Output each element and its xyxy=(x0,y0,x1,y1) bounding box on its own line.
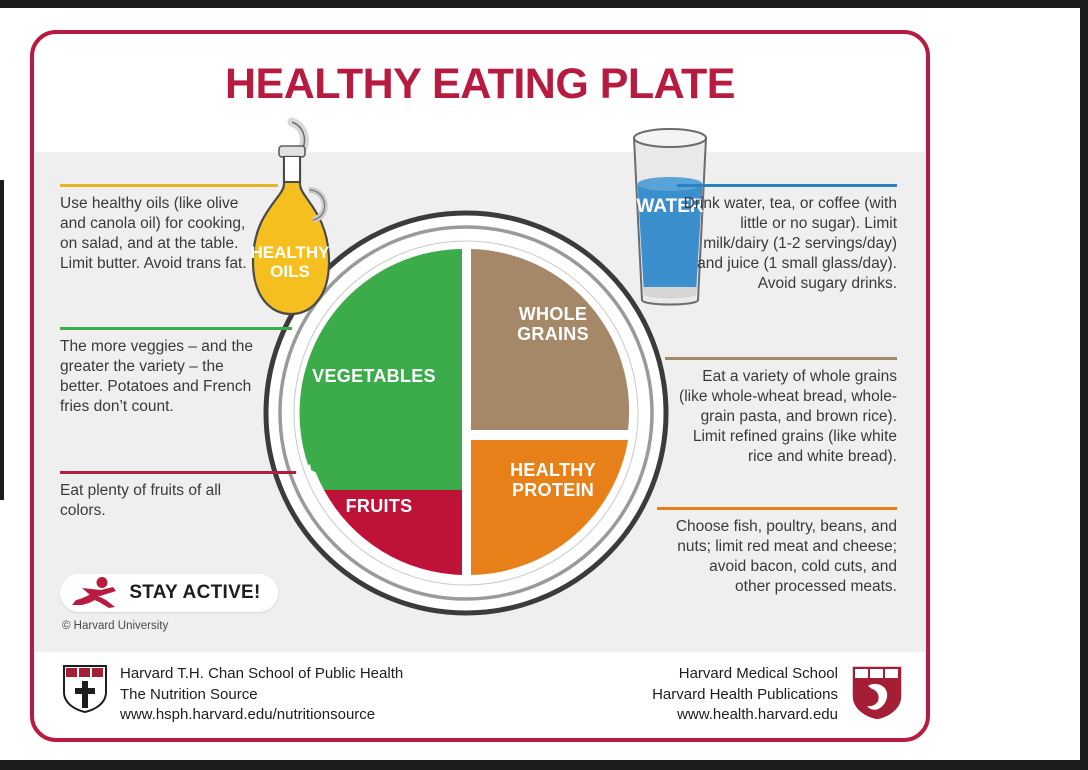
page-title: HEALTHY EATING PLATE xyxy=(34,60,926,109)
running-person-icon xyxy=(68,576,122,610)
callout-healthy-protein: Choose fish, poultry, beans, and nuts; l… xyxy=(670,507,897,597)
runner-arms xyxy=(82,587,116,596)
callout-rule-water xyxy=(677,184,897,187)
footer-left-line3[interactable]: www.hsph.harvard.edu/nutritionsource xyxy=(120,705,403,726)
callout-fruits: Eat plenty of fruits of all colors. xyxy=(60,471,268,521)
callout-rule-whole-grains xyxy=(665,357,897,360)
footer-right-line1: Harvard Medical School xyxy=(652,664,838,685)
callout-text-vegetables: The more veggies – and the greater the v… xyxy=(60,337,268,417)
callout-rule-fruits xyxy=(60,471,296,474)
hms-book-1 xyxy=(855,669,868,678)
runner-head xyxy=(97,577,108,588)
callout-healthy-oils: Use healthy oils (like olive and canola … xyxy=(60,184,260,274)
stay-active-badge[interactable]: STAY ACTIVE! xyxy=(60,574,278,612)
callout-vegetables: The more veggies – and the greater the v… xyxy=(60,327,268,417)
callout-text-healthy-oils: Use healthy oils (like olive and canola … xyxy=(60,194,260,274)
callout-rule-healthy-protein xyxy=(657,507,897,510)
screenshot-canvas: HEALTHY EATING PLATE VEGETABL xyxy=(0,0,1088,770)
oil-neck-empty xyxy=(284,157,300,182)
footer-right-line2: Harvard Health Publications xyxy=(652,685,838,706)
shield-book-3 xyxy=(92,668,103,677)
callout-water: Drink water, tea, or coffee (with little… xyxy=(677,184,897,294)
hms-book-2 xyxy=(870,669,883,678)
callout-text-whole-grains: Eat a variety of whole grains (like whol… xyxy=(677,367,897,467)
callout-text-healthy-protein: Choose fish, poultry, beans, and nuts; l… xyxy=(670,517,897,597)
window-chrome-right xyxy=(1080,0,1088,770)
footer-left-text: Harvard T.H. Chan School of Public Healt… xyxy=(120,664,403,726)
shield-book-1 xyxy=(66,668,77,677)
footer-left-line2: The Nutrition Source xyxy=(120,685,403,706)
footer-harvard-medical: Harvard Medical School Harvard Health Pu… xyxy=(652,664,904,726)
plate-segment-vegetables-ext[interactable] xyxy=(304,413,462,490)
window-chrome-top xyxy=(0,0,1088,8)
stay-active-label: STAY ACTIVE! xyxy=(122,582,278,604)
footer-left-line1: Harvard T.H. Chan School of Public Healt… xyxy=(120,664,403,685)
footer-harvard-chan: Harvard T.H. Chan School of Public Healt… xyxy=(62,664,403,726)
callout-whole-grains: Eat a variety of whole grains (like whol… xyxy=(677,357,897,467)
callout-rule-healthy-oils xyxy=(60,184,278,187)
copyright-text: © Harvard University xyxy=(62,620,168,632)
shield-book-2 xyxy=(79,668,90,677)
hms-book-3 xyxy=(885,669,898,678)
window-chrome-bottom xyxy=(0,760,1088,770)
harvard-chan-shield-icon xyxy=(62,664,108,714)
callout-text-fruits: Eat plenty of fruits of all colors. xyxy=(60,481,268,521)
healthy-eating-plate-poster: HEALTHY EATING PLATE VEGETABL xyxy=(30,30,930,742)
footer-right-line3[interactable]: www.health.harvard.edu xyxy=(652,705,838,726)
water-glass-rim xyxy=(634,129,706,147)
harvard-medical-shield-icon xyxy=(850,664,904,722)
window-chrome-left-edge xyxy=(0,180,4,500)
callout-rule-vegetables xyxy=(60,327,292,330)
oil-collar-icon xyxy=(279,146,305,157)
runner-legs xyxy=(92,595,115,608)
footer-right-text: Harvard Medical School Harvard Health Pu… xyxy=(652,664,838,726)
callout-text-water: Drink water, tea, or coffee (with little… xyxy=(677,194,897,294)
